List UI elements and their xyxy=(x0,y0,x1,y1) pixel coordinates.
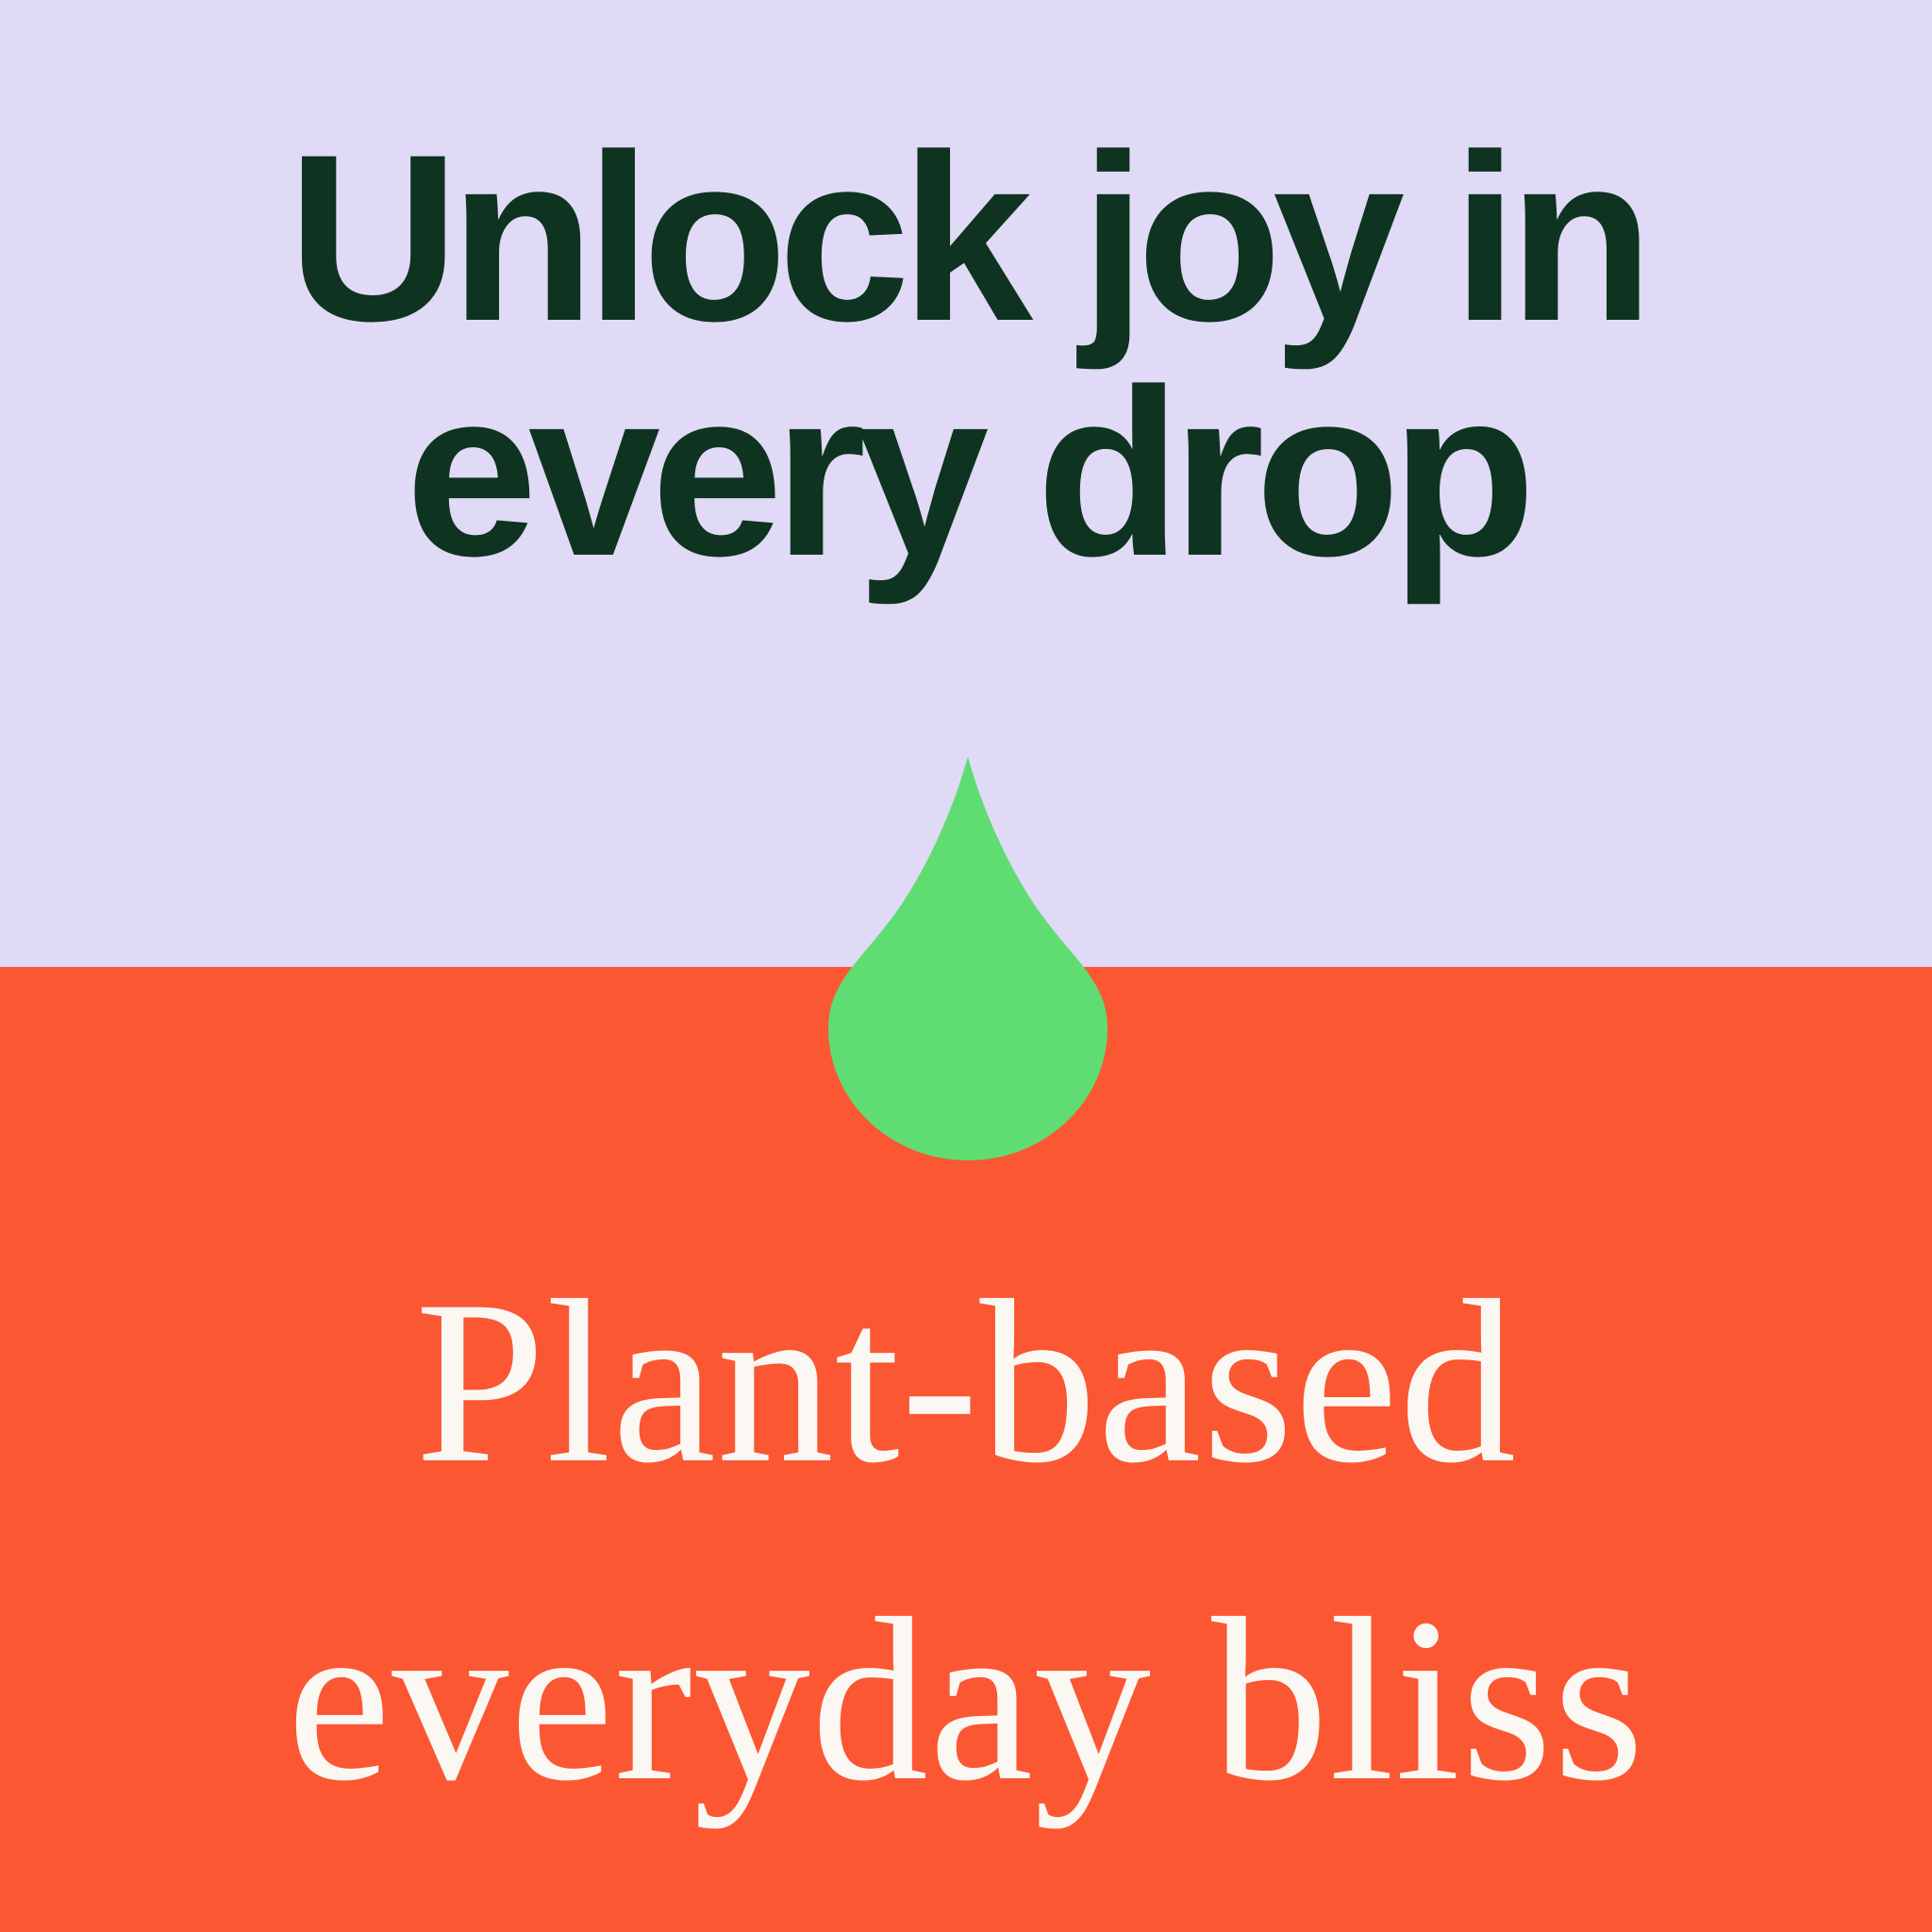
headline-line-1: Unlock joy in xyxy=(0,121,1932,356)
subhead: Plant-based everyday bliss xyxy=(0,1223,1932,1859)
subhead-line-1: Plant-based xyxy=(0,1223,1932,1541)
water-droplet-icon xyxy=(828,757,1108,1160)
headline: Unlock joy in every drop xyxy=(0,121,1932,591)
headline-line-2: every drop xyxy=(0,356,1932,591)
poster-canvas: Unlock joy in every drop Plant-based eve… xyxy=(0,0,1932,1932)
subhead-line-2: everyday bliss xyxy=(0,1541,1932,1858)
